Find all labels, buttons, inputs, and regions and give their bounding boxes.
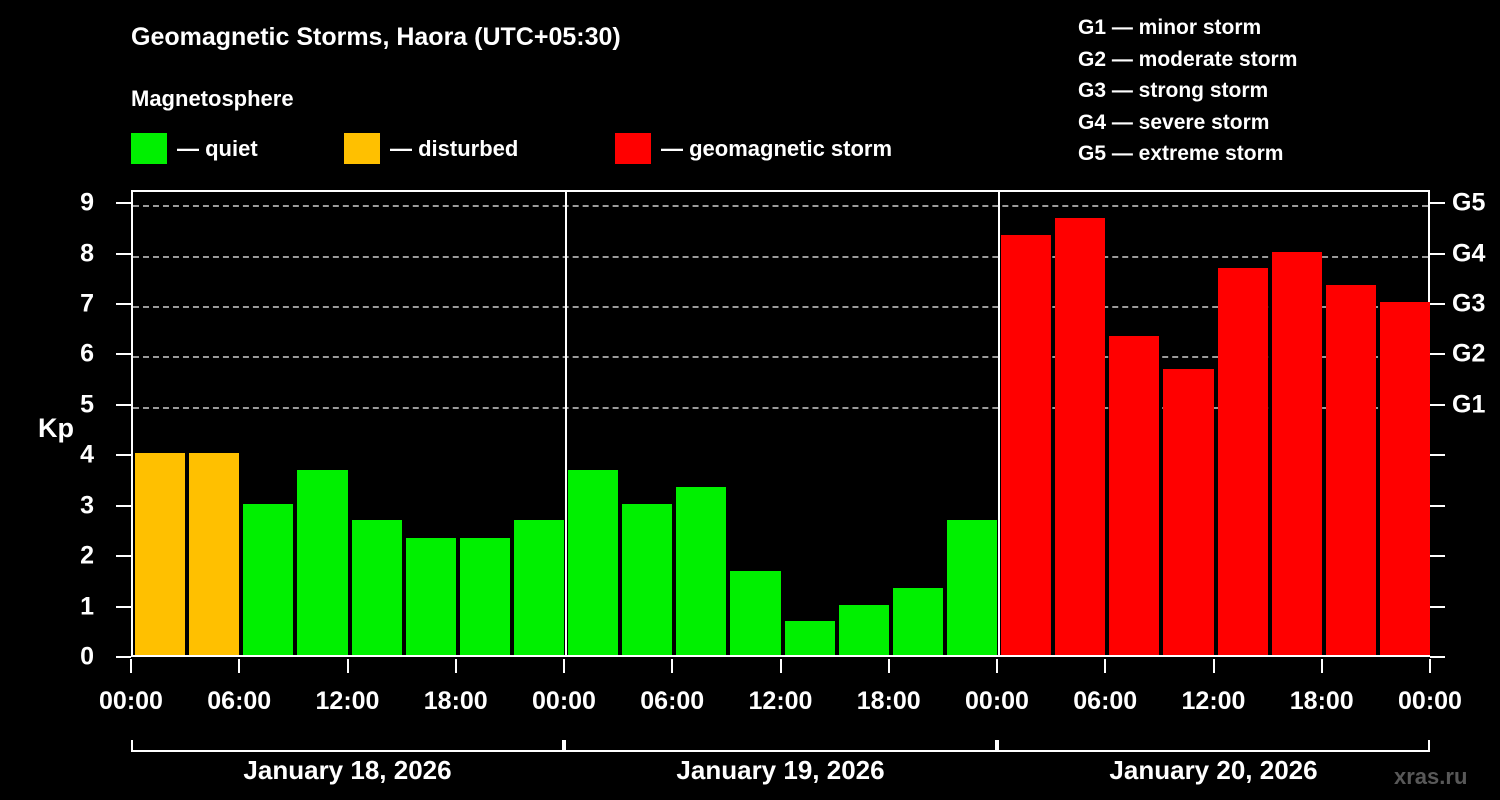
g-tick-mark — [1430, 303, 1445, 305]
x-tick-mark — [996, 659, 998, 673]
y-tick-label: 9 — [54, 189, 94, 218]
y-tick-mark — [116, 303, 131, 305]
bar-quiet[interactable] — [297, 470, 347, 655]
y-tick-mark — [116, 404, 131, 406]
date-label: January 19, 2026 — [676, 755, 884, 786]
g-tick-label: G2 — [1452, 340, 1485, 369]
bar-quiet[interactable] — [514, 520, 564, 655]
x-tick-label: 06:00 — [640, 687, 704, 716]
legend-swatch-disturbed-icon — [344, 133, 380, 164]
g-scale-line-g1: G1 — minor storm — [1078, 12, 1297, 44]
bar-quiet[interactable] — [622, 504, 672, 655]
g-tick-label: G3 — [1452, 289, 1485, 318]
date-label: January 18, 2026 — [243, 755, 451, 786]
g-tick-label: G1 — [1452, 390, 1485, 419]
x-tick-label: 12:00 — [749, 687, 813, 716]
y-tick-label: 4 — [54, 441, 94, 470]
date-bracket — [131, 740, 564, 752]
y-tick-mark — [116, 202, 131, 204]
x-tick-label: 00:00 — [1398, 687, 1462, 716]
y-tick-label: 7 — [54, 289, 94, 318]
y-tick-mark — [116, 656, 131, 658]
page-title: Geomagnetic Storms, Haora (UTC+05:30) — [131, 23, 621, 52]
x-tick-label: 12:00 — [316, 687, 380, 716]
bar-quiet[interactable] — [406, 538, 456, 656]
bar-quiet[interactable] — [893, 588, 943, 655]
y-tick-label: 8 — [54, 239, 94, 268]
g-tick-mark-minor — [1430, 656, 1445, 658]
x-tick-mark — [563, 659, 565, 673]
bar-storm[interactable] — [1109, 336, 1159, 655]
legend-label-quiet: — quiet — [177, 136, 258, 162]
g-scale-line-g4: G4 — severe storm — [1078, 107, 1297, 139]
date-bracket — [997, 740, 1430, 752]
x-tick-label: 18:00 — [857, 687, 921, 716]
y-tick-label: 2 — [54, 542, 94, 571]
plot-area — [131, 190, 1430, 657]
bar-quiet[interactable] — [243, 504, 293, 655]
x-tick-label: 06:00 — [1073, 687, 1137, 716]
g-tick-mark-minor — [1430, 505, 1445, 507]
bar-storm[interactable] — [1055, 218, 1105, 655]
x-tick-mark — [1104, 659, 1106, 673]
bars-layer — [133, 192, 1428, 655]
date-label: January 20, 2026 — [1109, 755, 1317, 786]
bar-disturbed[interactable] — [135, 453, 185, 655]
bar-quiet[interactable] — [568, 470, 618, 655]
bar-quiet[interactable] — [730, 571, 780, 655]
bar-quiet[interactable] — [947, 520, 997, 655]
bar-disturbed[interactable] — [189, 453, 239, 655]
y-tick-mark — [116, 505, 131, 507]
x-tick-mark — [1321, 659, 1323, 673]
bar-quiet[interactable] — [352, 520, 402, 655]
bar-quiet[interactable] — [785, 621, 835, 655]
g-scale-line-g5: G5 — extreme storm — [1078, 138, 1297, 170]
x-tick-label: 18:00 — [1290, 687, 1354, 716]
legend-item-disturbed: — disturbed — [344, 133, 518, 167]
bar-storm[interactable] — [1326, 285, 1376, 655]
x-tick-mark — [780, 659, 782, 673]
y-tick-label: 6 — [54, 340, 94, 369]
legend-label-storm: — geomagnetic storm — [661, 136, 892, 162]
y-tick-mark — [116, 353, 131, 355]
y-tick-mark — [116, 555, 131, 557]
x-tick-label: 06:00 — [207, 687, 271, 716]
legend-item-quiet: — quiet — [131, 133, 258, 167]
y-tick-mark — [116, 253, 131, 255]
y-tick-label: 1 — [54, 592, 94, 621]
date-bracket — [564, 740, 997, 752]
y-tick-label: 0 — [54, 643, 94, 672]
x-tick-label: 18:00 — [424, 687, 488, 716]
g-tick-mark — [1430, 404, 1445, 406]
x-tick-label: 00:00 — [532, 687, 596, 716]
legend-swatch-storm-icon — [615, 133, 651, 164]
y-tick-mark — [116, 454, 131, 456]
g-tick-label: G5 — [1452, 189, 1485, 218]
x-tick-label: 00:00 — [965, 687, 1029, 716]
legend-label-disturbed: — disturbed — [390, 136, 518, 162]
legend-swatch-quiet-icon — [131, 133, 167, 164]
x-tick-label: 12:00 — [1182, 687, 1246, 716]
g-tick-mark — [1430, 353, 1445, 355]
x-tick-mark — [455, 659, 457, 673]
chart-root: Geomagnetic Storms, Haora (UTC+05:30) Ma… — [0, 0, 1500, 800]
bar-quiet[interactable] — [839, 605, 889, 655]
x-tick-mark — [888, 659, 890, 673]
x-tick-mark — [238, 659, 240, 673]
x-tick-mark — [671, 659, 673, 673]
y-tick-mark — [116, 606, 131, 608]
g-tick-mark — [1430, 253, 1445, 255]
g-tick-mark-minor — [1430, 555, 1445, 557]
x-tick-label: 00:00 — [99, 687, 163, 716]
watermark: xras.ru — [1394, 764, 1467, 790]
bar-storm[interactable] — [1272, 252, 1322, 655]
g-scale-line-g3: G3 — strong storm — [1078, 75, 1297, 107]
bar-quiet[interactable] — [676, 487, 726, 655]
y-tick-label: 5 — [54, 390, 94, 419]
legend-item-storm: — geomagnetic storm — [615, 133, 892, 167]
x-tick-mark — [130, 659, 132, 673]
bar-storm[interactable] — [1163, 369, 1213, 655]
g-scale-line-g2: G2 — moderate storm — [1078, 44, 1297, 76]
chart-subtitle: Magnetosphere — [131, 86, 294, 112]
bar-quiet[interactable] — [460, 538, 510, 656]
g-tick-mark-minor — [1430, 454, 1445, 456]
x-tick-mark — [1429, 659, 1431, 673]
bar-storm[interactable] — [1001, 235, 1051, 655]
g-tick-mark — [1430, 202, 1445, 204]
y-tick-label: 3 — [54, 491, 94, 520]
x-tick-mark — [347, 659, 349, 673]
g-tick-label: G4 — [1452, 239, 1485, 268]
g-tick-mark-minor — [1430, 606, 1445, 608]
x-tick-mark — [1213, 659, 1215, 673]
g-scale-legend: G1 — minor storm G2 — moderate storm G3 … — [1078, 12, 1297, 170]
bar-storm[interactable] — [1218, 268, 1268, 655]
bar-storm[interactable] — [1380, 302, 1430, 655]
